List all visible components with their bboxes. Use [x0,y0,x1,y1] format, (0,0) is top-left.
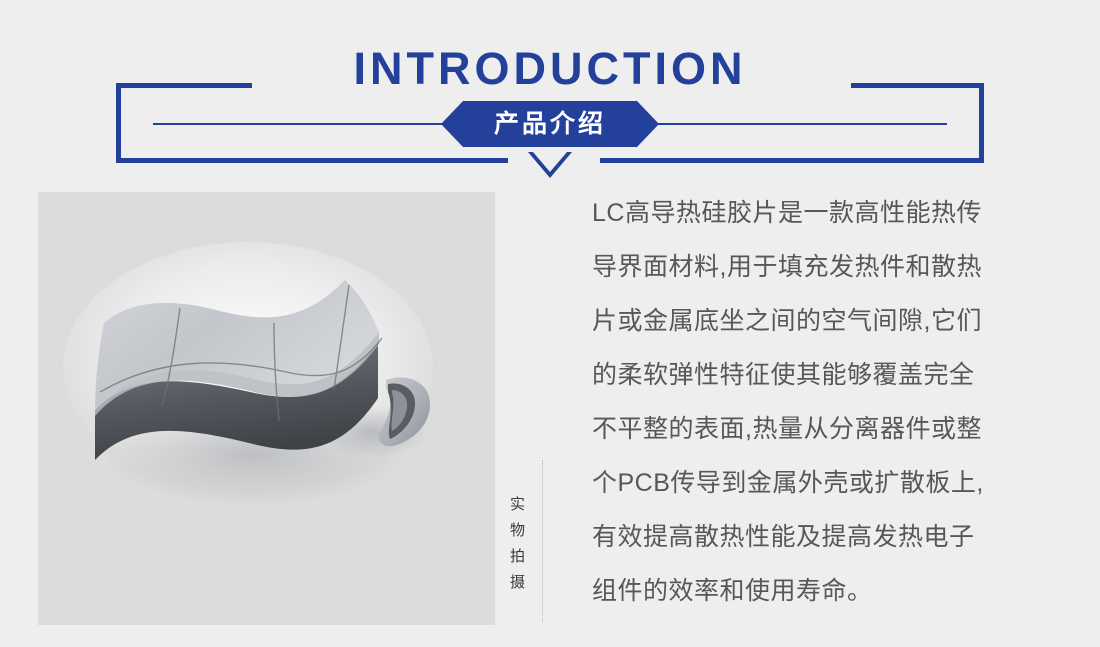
description-line: 个PCB传导到金属外壳或扩散板上, [592,456,1092,510]
frame-right-post [979,83,984,163]
inner-rule-left [153,123,445,125]
photo-caption-real-shot: 实 物 拍 摄 [505,492,531,596]
caption-char: 物 [505,518,531,544]
caption-char: 实 [505,492,531,518]
description-line: 不平整的表面,热量从分离器件或整 [592,402,1092,456]
description-line: LC高导热硅胶片是一款高性能热传 [592,186,1092,240]
frame-bottom-right-segment [600,158,984,163]
description-line: 组件的效率和使用寿命。 [592,564,1092,618]
description-line: 有效提高散热性能及提高发热电子 [592,510,1092,564]
product-description: LC高导热硅胶片是一款高性能热传 导界面材料,用于填充发热件和散热 片或金属底坐… [592,186,1092,618]
caption-char: 拍 [505,544,531,570]
product-photo-panel [38,192,495,625]
page-title-english: INTRODUCTION [0,44,1100,94]
caption-char: 摄 [505,570,531,596]
caption-divider [542,460,543,622]
description-line: 导界面材料,用于填充发热件和散热 [592,240,1092,294]
description-line: 的柔软弹性特征使其能够覆盖完全 [592,348,1092,402]
inner-rule-right [655,123,947,125]
frame-left-post [116,83,121,163]
frame-bottom-left-segment [116,158,508,163]
triangle-down-inner [533,152,567,172]
section-badge-product-introduction: 产品介绍 [441,101,659,147]
description-line: 片或金属底坐之间的空气间隙,它们 [592,294,1092,348]
product-photo-image [38,192,495,625]
header-banner: INTRODUCTION 产品介绍 [0,0,1100,185]
